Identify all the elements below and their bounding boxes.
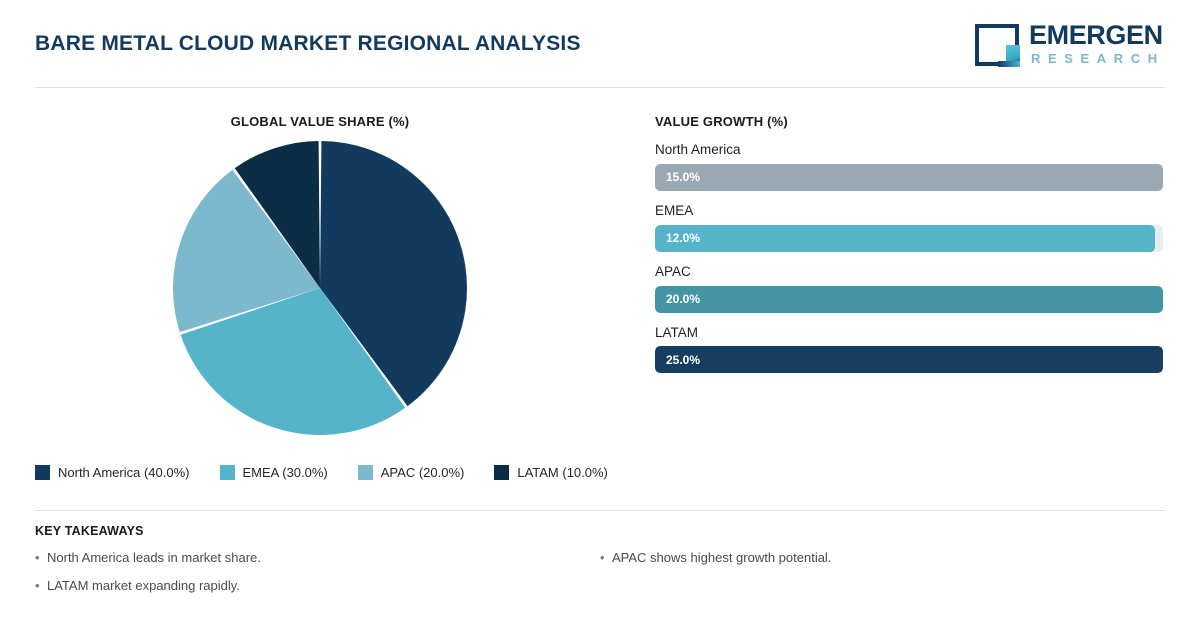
- square-outline-icon: [975, 24, 1019, 66]
- bar-row: LATAM25.0%: [655, 326, 1163, 374]
- value-growth-panel: VALUE GROWTH (%) North America15.0%EMEA1…: [655, 108, 1165, 408]
- bar-track: 25.0%: [655, 346, 1163, 373]
- takeaway-text: North America leads in market share.: [47, 550, 261, 566]
- bar-row: APAC20.0%: [655, 265, 1163, 313]
- pie-chart: North America (40.0%)EMEA (30.0%)APAC (2…: [172, 140, 468, 436]
- bar-chart-title: VALUE GROWTH (%): [655, 114, 788, 129]
- key-takeaways-columns: •North America leads in market share.•LA…: [35, 550, 1165, 607]
- logo-subword: RESEARCH: [1031, 52, 1165, 65]
- takeaways-column: •North America leads in market share.•LA…: [35, 550, 600, 607]
- bar-label: North America: [655, 143, 1163, 158]
- bar-value-label: 15.0%: [666, 170, 700, 184]
- legend-label: LATAM (10.0%): [517, 465, 608, 480]
- page-title: BARE METAL CLOUD MARKET REGIONAL ANALYSI…: [35, 32, 581, 56]
- legend-swatch-emea: [220, 465, 235, 480]
- legend-swatch-apac: [358, 465, 373, 480]
- header-divider: [35, 87, 1165, 88]
- bullet-icon: •: [35, 550, 47, 566]
- page-header: BARE METAL CLOUD MARKET REGIONAL ANALYSI…: [0, 0, 1200, 88]
- legend-item: LATAM (10.0%): [494, 465, 608, 480]
- bullet-icon: •: [600, 550, 612, 566]
- takeaways-column: •APAC shows highest growth potential.: [600, 550, 1165, 607]
- legend-label: North America (40.0%): [58, 465, 190, 480]
- bar-track: 20.0%: [655, 286, 1163, 313]
- logo-wordmark: EMERGEN: [1029, 22, 1163, 49]
- takeaway-text: APAC shows highest growth potential.: [612, 550, 831, 566]
- takeaway-item: •APAC shows highest growth potential.: [600, 550, 1165, 566]
- bar-label: EMEA: [655, 204, 1163, 219]
- bar-row: North America15.0%: [655, 143, 1163, 191]
- takeaway-item: •North America leads in market share.: [35, 550, 600, 566]
- emergen-research-logo: EMERGEN RESEARCH: [956, 20, 1156, 70]
- bar-fill: 12.0%: [655, 225, 1155, 252]
- legend-item: North America (40.0%): [35, 465, 190, 480]
- legend-item: EMEA (30.0%): [220, 465, 328, 480]
- pie-chart-title: GLOBAL VALUE SHARE (%): [35, 114, 605, 129]
- bar-fill: 15.0%: [655, 164, 1163, 191]
- legend-label: EMEA (30.0%): [243, 465, 328, 480]
- takeaway-item: •LATAM market expanding rapidly.: [35, 578, 600, 594]
- footer-divider: [35, 510, 1165, 511]
- bar-row: EMEA12.0%: [655, 204, 1163, 252]
- bar-track: 15.0%: [655, 164, 1163, 191]
- bar-fill: 25.0%: [655, 346, 1163, 373]
- key-takeaways-title: KEY TAKEAWAYS: [35, 524, 1165, 538]
- takeaway-text: LATAM market expanding rapidly.: [47, 578, 240, 594]
- bar-value-label: 25.0%: [666, 353, 700, 367]
- pie-legend: North America (40.0%) EMEA (30.0%) APAC …: [35, 462, 638, 482]
- legend-item: APAC (20.0%): [358, 465, 465, 480]
- bar-value-label: 12.0%: [666, 231, 700, 245]
- bar-chart: North America15.0%EMEA12.0%APAC20.0%LATA…: [655, 143, 1163, 386]
- bar-track: 12.0%: [655, 225, 1163, 252]
- key-takeaways-section: KEY TAKEAWAYS •North America leads in ma…: [35, 524, 1165, 607]
- bar-fill: 20.0%: [655, 286, 1163, 313]
- bar-value-label: 20.0%: [666, 292, 700, 306]
- bullet-icon: •: [35, 578, 47, 594]
- bar-label: LATAM: [655, 326, 1163, 341]
- pie-chart-svg: North America (40.0%)EMEA (30.0%)APAC (2…: [172, 140, 468, 436]
- legend-swatch-north-america: [35, 465, 50, 480]
- legend-swatch-latam: [494, 465, 509, 480]
- global-value-share-panel: GLOBAL VALUE SHARE (%) North America (40…: [35, 108, 605, 488]
- bar-label: APAC: [655, 265, 1163, 280]
- legend-label: APAC (20.0%): [381, 465, 465, 480]
- logo-accent-bottom: [998, 61, 1020, 67]
